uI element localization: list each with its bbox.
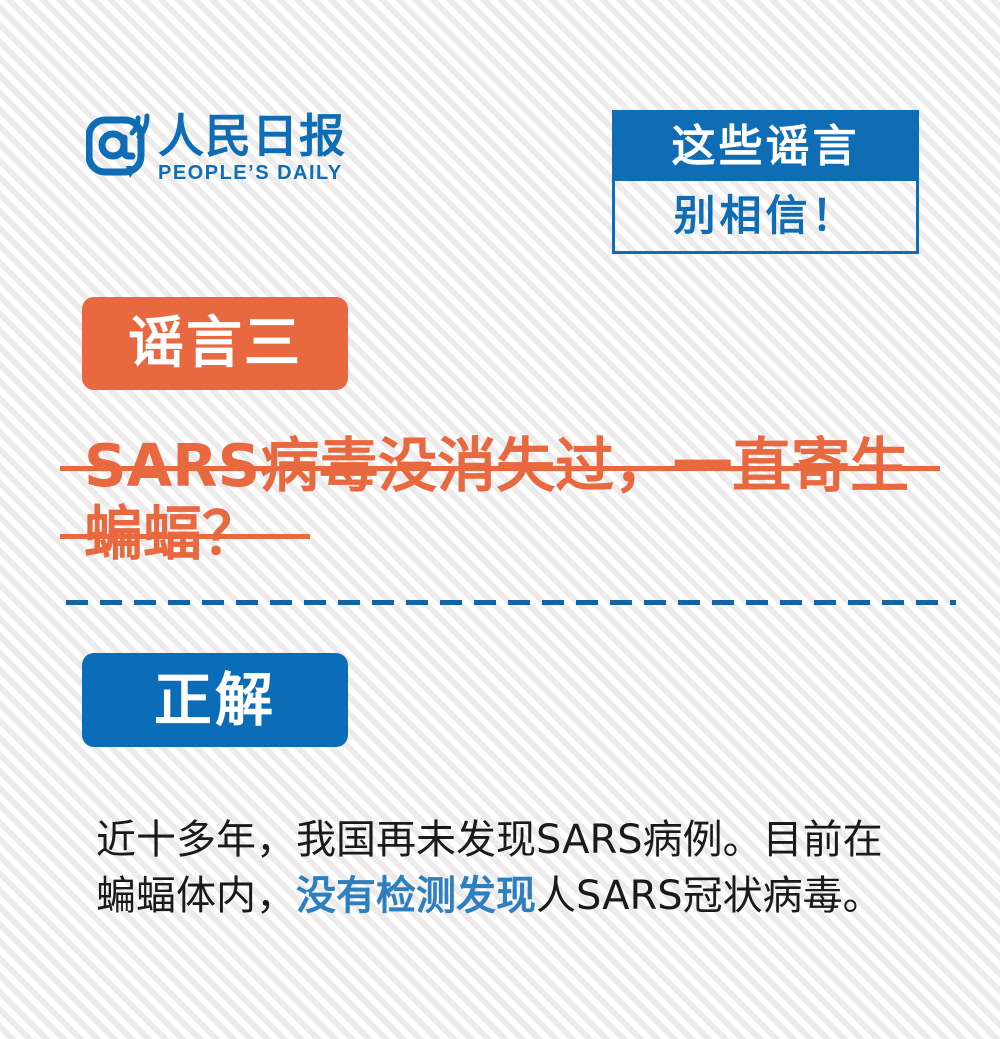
brand-name-cn: 人民日报 <box>158 112 346 160</box>
headline-line-1: 这些谣言 <box>672 125 860 169</box>
rumor-statement: SARS病毒没消失过，一直寄生 蝙蝠？ <box>84 432 934 568</box>
masthead-wordmark: 人民日报 PEOPLE’S DAILY <box>158 112 346 184</box>
poster-canvas: 人民日报 PEOPLE’S DAILY 这些谣言 别相信！ 谣言三 SARS病毒… <box>0 0 1000 1039</box>
answer-body-text: 近十多年，我国再未发现SARS病例。目前在 蝙蝠体内，没有检测发现人SARS冠状… <box>96 812 952 924</box>
headline-line-2: 别相信！ <box>673 195 857 237</box>
answer-body-line-2-prefix: 蝙蝠体内， <box>96 873 296 919</box>
rumor-badge-label: 谣言三 <box>128 316 302 372</box>
headline-top-band: 这些谣言 <box>615 113 916 181</box>
rumor-badge: 谣言三 <box>82 297 348 390</box>
headline-callout-box: 这些谣言 别相信！ <box>612 110 919 254</box>
peoples-daily-masthead: 人民日报 PEOPLE’S DAILY <box>86 110 346 184</box>
answer-body-line-2: 蝙蝠体内，没有检测发现人SARS冠状病毒。 <box>96 868 952 924</box>
answer-body-line-1: 近十多年，我国再未发现SARS病例。目前在 <box>96 812 952 868</box>
answer-badge: 正解 <box>82 653 348 747</box>
answer-badge-label: 正解 <box>154 671 276 729</box>
answer-body-line-1-text: 近十多年，我国再未发现SARS病例。目前在 <box>96 817 883 863</box>
at-sign-icon <box>86 110 152 182</box>
strikethrough-line-2 <box>60 534 310 539</box>
rumor-statement-line-1: SARS病毒没消失过，一直寄生 <box>84 432 934 500</box>
rumor-statement-line-2: 蝙蝠？ <box>84 500 934 568</box>
answer-body-emphasis: 没有检测发现 <box>296 873 536 919</box>
strikethrough-line-1 <box>60 466 940 471</box>
answer-body-line-2-suffix: 人SARS冠状病毒。 <box>536 873 883 919</box>
brand-name-en: PEOPLE’S DAILY <box>158 162 346 184</box>
dashed-divider <box>66 600 956 605</box>
headline-bottom-band: 别相信！ <box>615 181 916 251</box>
